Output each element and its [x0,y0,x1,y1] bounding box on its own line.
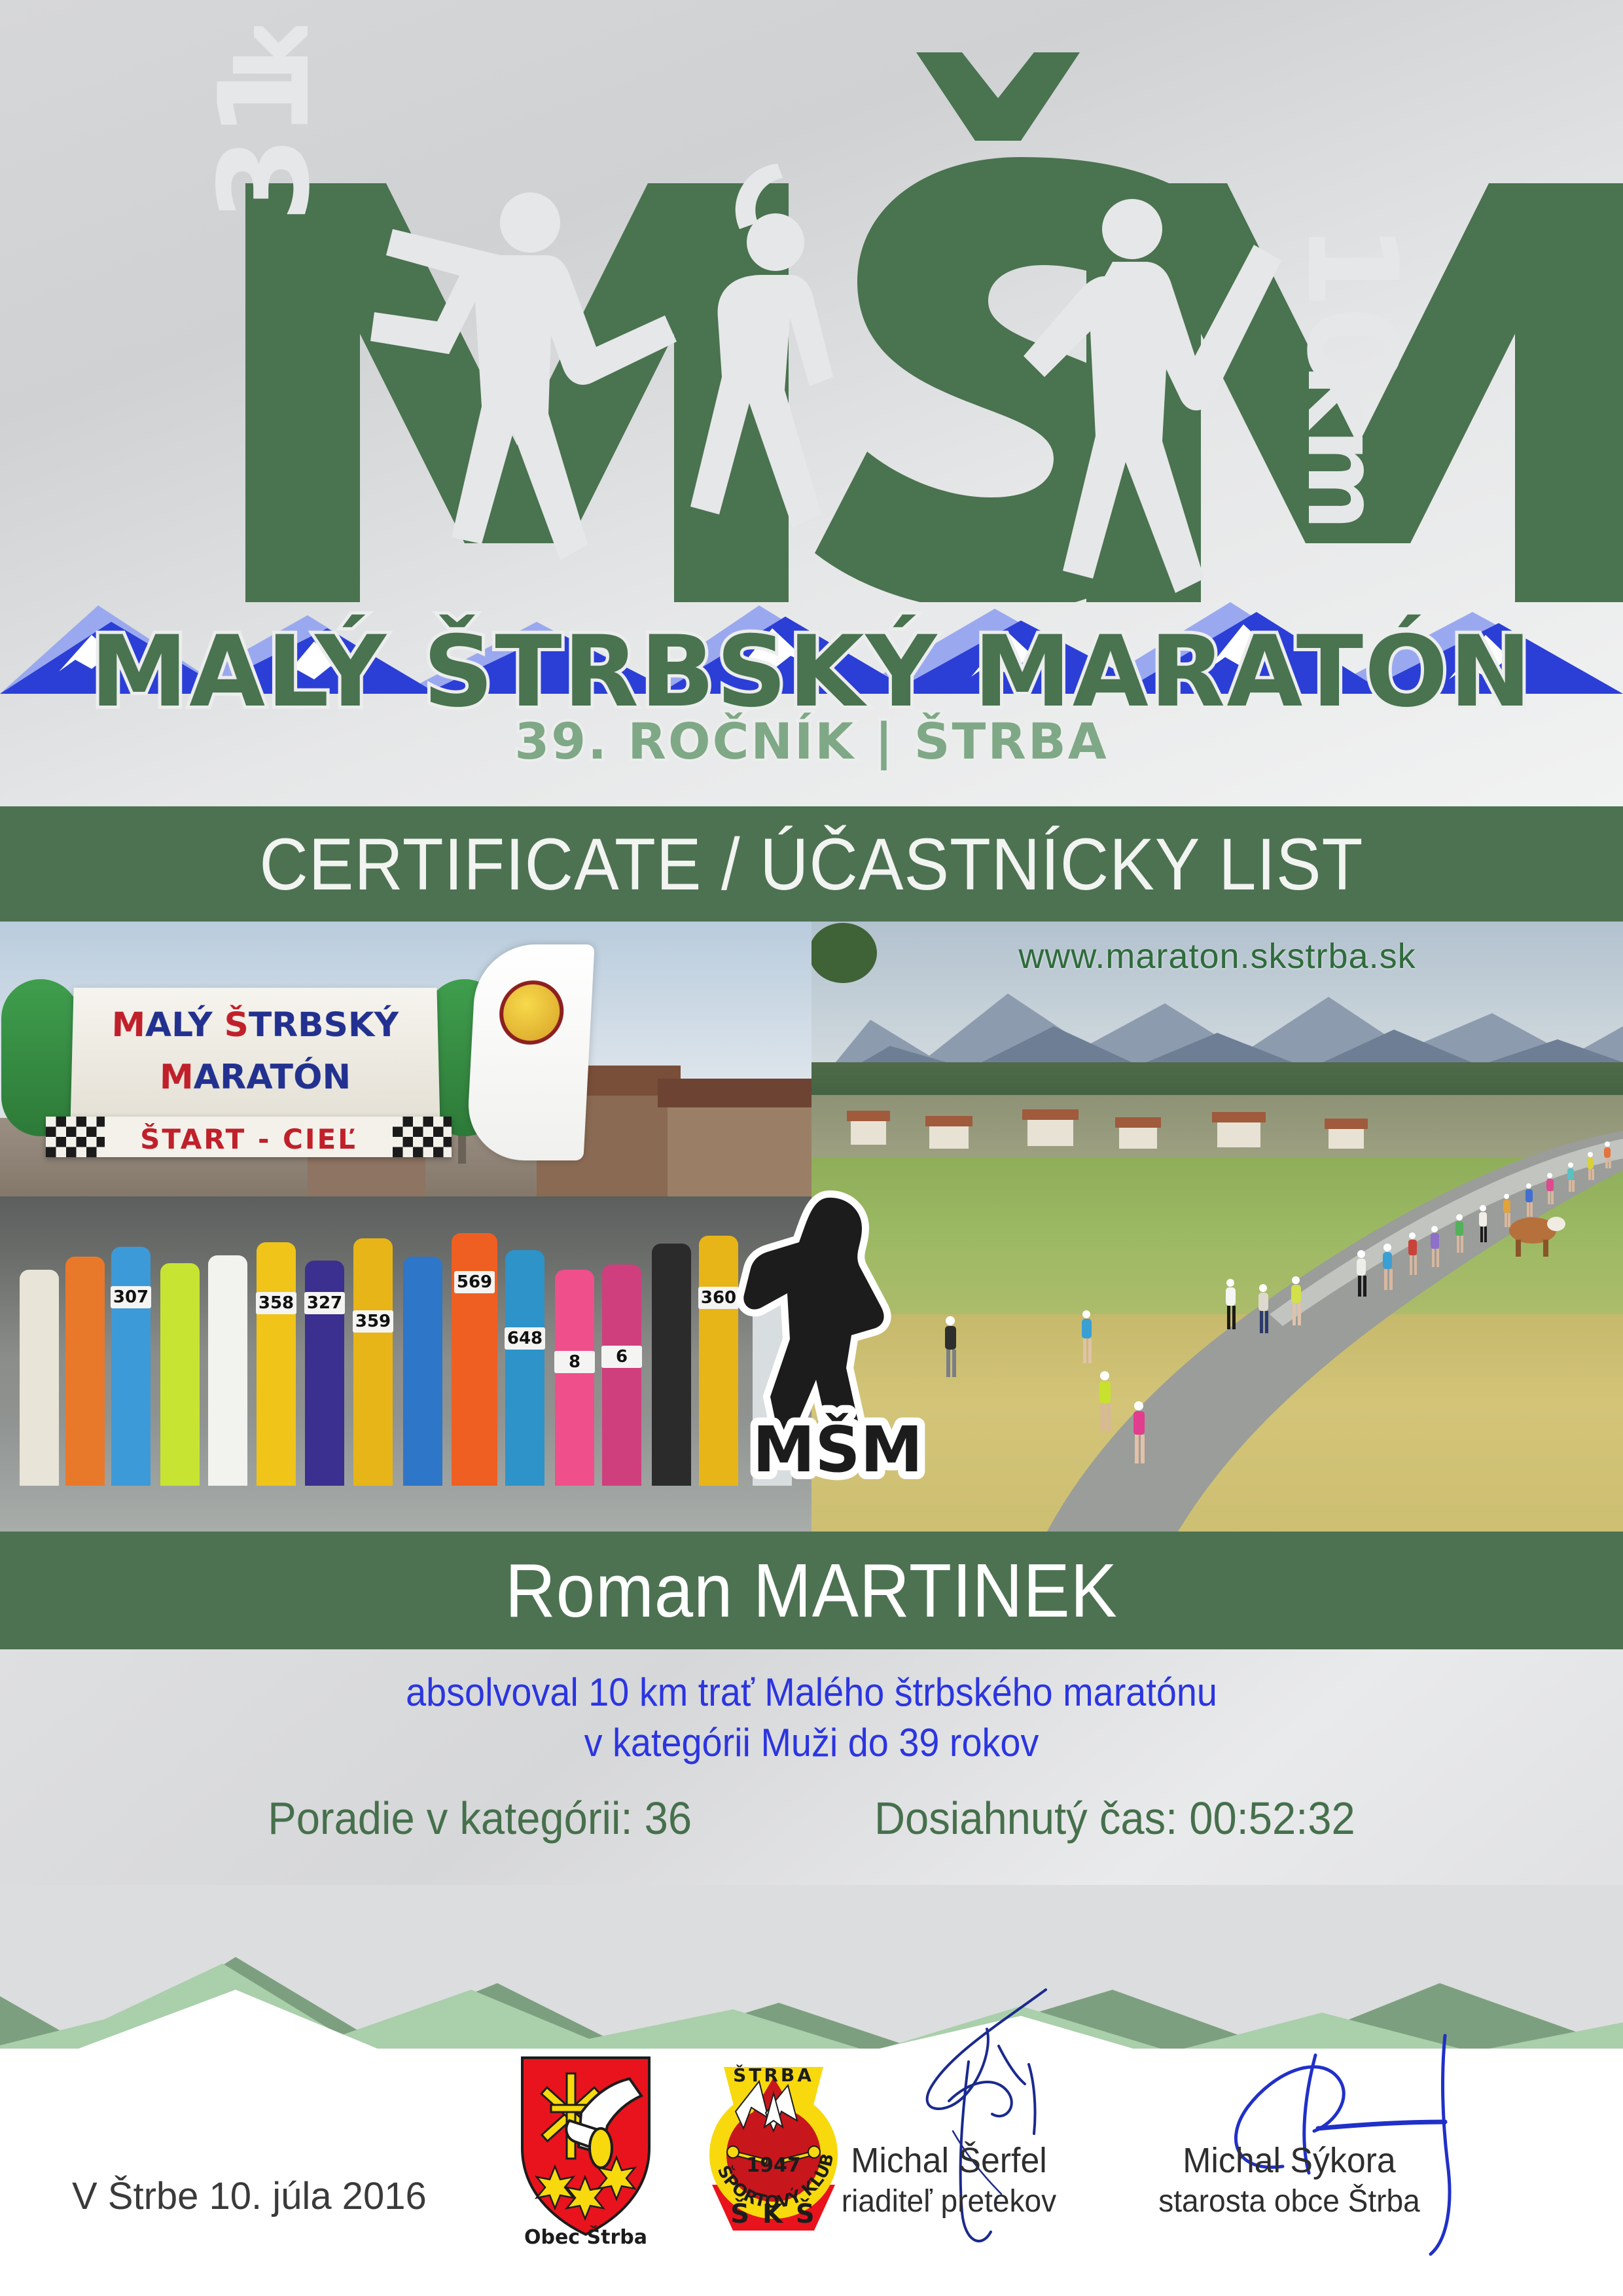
finish-time: Dosiahnutý čas: 00:52:32 [874,1792,1355,1844]
distance-31km: 31 km [192,26,337,223]
arch-s: Š [224,1006,248,1045]
photo-start-line: MALÝ ŠTRBSKÝ MARATÓN ŠTART - CIEĽ [0,922,811,1532]
start-finish-label: ŠTART - CIEĽ [46,1123,452,1155]
club-logo-top-text: ŠTRBA [733,2064,814,2086]
msm-logo-svg: 31 km 10 km [0,26,1623,602]
runner [403,1257,442,1486]
bib-number: 359 [353,1310,393,1333]
participant-name: Roman MARTINEK [505,1547,1118,1634]
arch-aly: ALÝ [145,1006,224,1045]
arch-m: M [111,1006,146,1045]
director-name: Michal Šerfel [773,2140,1125,2181]
signature-block-director: Michal Šerfel riaditeľ pretekov [766,2140,1132,2219]
runner: 359 [353,1238,393,1486]
runner [208,1255,247,1486]
description-line-2: v kategórii Muži do 39 rokov [57,1718,1566,1768]
sponsor-sail-flag [465,944,594,1160]
arch-banner: MALÝ ŠTRBSKÝ MARATÓN [70,988,440,1128]
bib-number: 8 [554,1351,595,1373]
description-line-1: absolvoval 10 km trať Malého štrbského m… [57,1668,1566,1718]
runner [20,1270,59,1486]
arch-m2: M [160,1058,194,1097]
bib-number: 307 [111,1286,151,1308]
start-finish-arch: MALÝ ŠTRBSKÝ MARATÓN ŠTART - CIEĽ [7,948,504,1144]
mayor-role: starosta obce Štrba [1113,2183,1465,2219]
bib-number: 648 [505,1327,545,1350]
arch-trbsky: TRBSKÝ [249,1006,399,1045]
msm-emblem-wordmark: MŠM MŠM [753,1412,923,1486]
runner: 327 [305,1261,344,1486]
arch-araton: ARATÓN [194,1058,351,1097]
bib-number: 358 [256,1292,296,1314]
runner: 6 [602,1265,641,1486]
results-row: Poradie v kategórii: 36 Dosiahnutý čas: … [57,1792,1566,1844]
msm-logo: 31 km 10 km [0,26,1623,589]
website-url[interactable]: www.maraton.skstrba.sk [811,936,1623,977]
cow [1509,1217,1565,1257]
svg-text:MŠM: MŠM [753,1412,923,1486]
director-role: riaditeľ pretekov [773,2183,1125,2219]
runner [652,1244,691,1486]
runner: 8 [555,1270,594,1486]
runner: 358 [257,1242,296,1486]
runner-crowd: 307 358 327 359 569 648 8 6 360 [0,1196,811,1532]
bib-number: 327 [304,1292,345,1314]
msm-runner-emblem: MŠM MŠM [730,1178,946,1486]
arch-title-line1: MALÝ ŠTRBSKÝ [72,1006,438,1045]
certificate-page: 31 km 10 km [0,0,1623,2296]
obec-strba-coat-of-arms: Obec Štrba [504,2050,668,2246]
runner [65,1257,105,1486]
participant-name-band: Roman MARTINEK [0,1532,1623,1649]
svg-text:km: km [1285,363,1399,531]
runner: 648 [505,1250,544,1486]
roof [658,1079,811,1107]
arch-leg-left [1,979,80,1136]
bib-number: 6 [601,1346,642,1368]
runner: 569 [452,1233,497,1486]
signature-sykora-ink [1198,1977,1538,2265]
issue-date: V Štrbe 10. júla 2016 [72,2174,427,2218]
runner: 307 [111,1247,151,1486]
event-subtitle: 39. ROČNÍK | ŠTRBA [0,712,1623,770]
obec-strba-label: Obec Štrba [524,2225,647,2246]
certificate-banner-text: CERTIFICATE / ÚČASTNÍCKY LIST [259,822,1363,906]
mayor-name: Michal Sýkora [1113,2140,1465,2181]
runner [160,1263,200,1486]
start-finish-strip: ŠTART - CIEĽ [46,1117,452,1157]
participation-description: absolvoval 10 km trať Malého štrbského m… [57,1668,1566,1768]
arch-title-line2: MARATÓN [71,1058,440,1097]
certificate-banner: CERTIFICATE / ÚČASTNÍCKY LIST [0,806,1623,922]
svg-text:km: km [217,26,331,82]
header-logo-area: 31 km 10 km [0,0,1623,806]
sponsor-badge-icon [498,980,565,1045]
signature-block-mayor: Michal Sýkora starosta obce Štrba [1106,2140,1472,2219]
bib-number: 569 [454,1271,495,1293]
category-rank: Poradie v kategórii: 36 [268,1792,692,1844]
